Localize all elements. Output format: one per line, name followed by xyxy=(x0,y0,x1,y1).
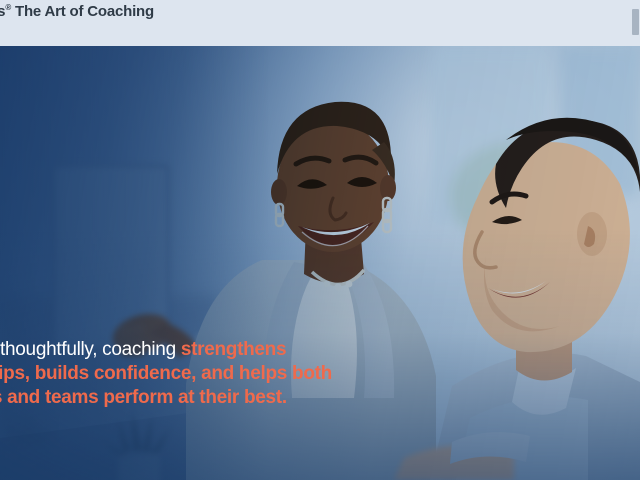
hero-line-1: done thoughtfully, coaching strengthens xyxy=(0,338,384,362)
app-header: Briefs® The Art of Coaching ion xyxy=(0,0,640,46)
scrollbar-thumb[interactable] xyxy=(632,9,639,35)
hero-line-1-plain: done thoughtfully, coaching xyxy=(0,339,181,360)
hero-vignette xyxy=(0,46,640,480)
hero-headline: done thoughtfully, coaching strengthens … xyxy=(0,338,384,410)
hero-line-2: onships, builds confidence, and helps bo… xyxy=(0,362,384,386)
hero-line-1-accent: strengthens xyxy=(181,339,286,360)
hero-banner: done thoughtfully, coaching strengthens … xyxy=(0,46,640,480)
page-title: Briefs® The Art of Coaching xyxy=(0,3,154,20)
hero-line-3: duals and teams perform at their best. xyxy=(0,386,384,410)
page-title-rest: The Art of Coaching xyxy=(11,3,154,20)
vertical-scrollbar[interactable] xyxy=(631,0,640,46)
